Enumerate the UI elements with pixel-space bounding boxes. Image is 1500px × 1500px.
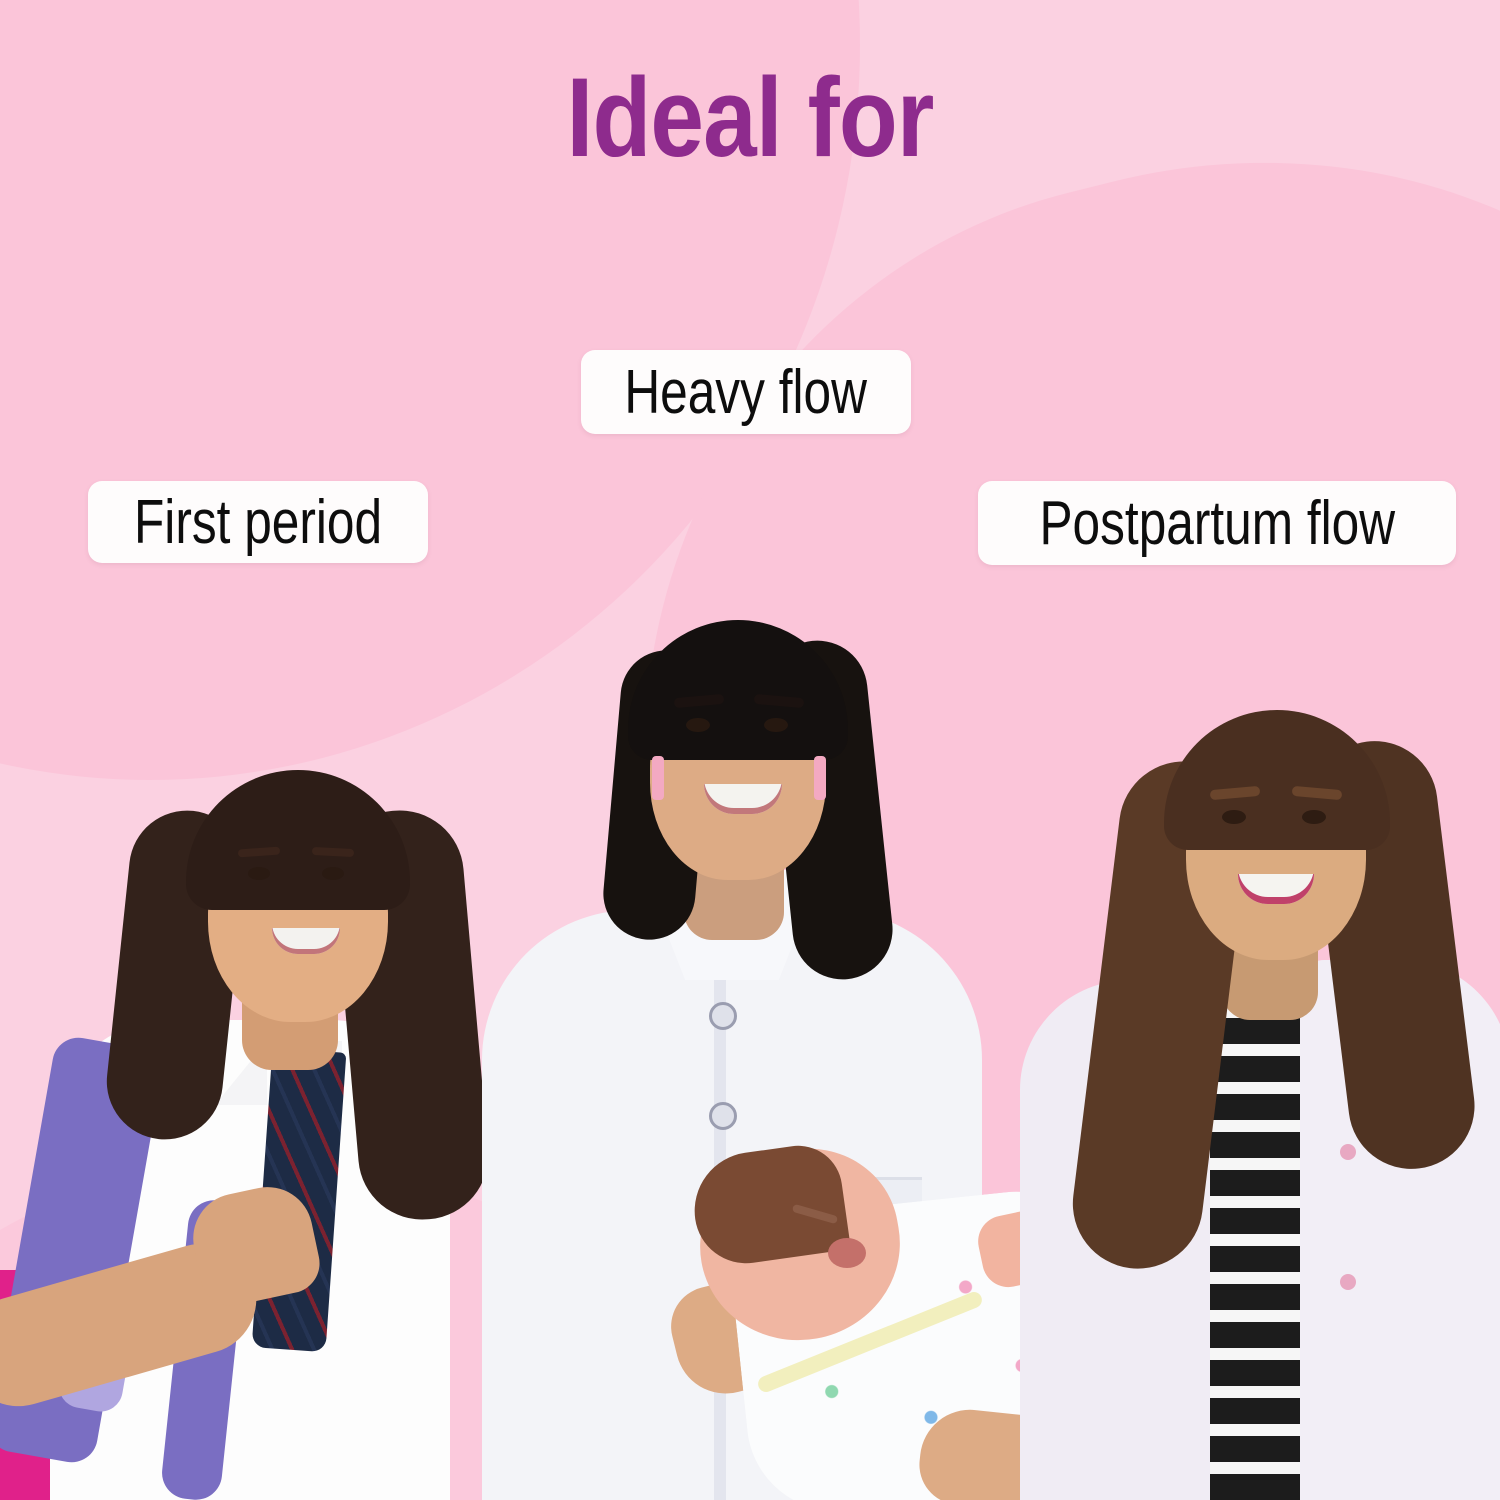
eye-left [248, 867, 270, 880]
badge-heavy-flow: Heavy flow [581, 350, 911, 434]
page-title: Ideal for [105, 62, 1395, 174]
eye-right [764, 718, 788, 732]
earring-left [652, 756, 664, 800]
infographic-canvas: Ideal for [0, 0, 1500, 1500]
hair [186, 770, 410, 910]
coat-button [709, 1102, 737, 1130]
eye-left [1222, 810, 1246, 824]
photo-schoolgirl [0, 670, 510, 1500]
earring-right [814, 756, 826, 800]
cardigan-button [1340, 1274, 1356, 1290]
hair [1164, 710, 1390, 850]
baby-open-mouth [828, 1238, 866, 1268]
badge-first-period: First period [88, 481, 428, 563]
eye-right [322, 867, 344, 880]
badge-postpartum-flow: Postpartum flow [978, 481, 1456, 565]
badge-first-period-label: First period [134, 487, 382, 558]
photo-mother [1010, 620, 1500, 1500]
eye-left [686, 718, 710, 732]
baby-hair [687, 1140, 851, 1270]
eye-right [1302, 810, 1326, 824]
badge-heavy-flow-label: Heavy flow [625, 357, 868, 428]
badge-postpartum-flow-label: Postpartum flow [1039, 488, 1395, 559]
cardigan-button [1340, 1144, 1356, 1160]
coat-button [709, 1002, 737, 1030]
